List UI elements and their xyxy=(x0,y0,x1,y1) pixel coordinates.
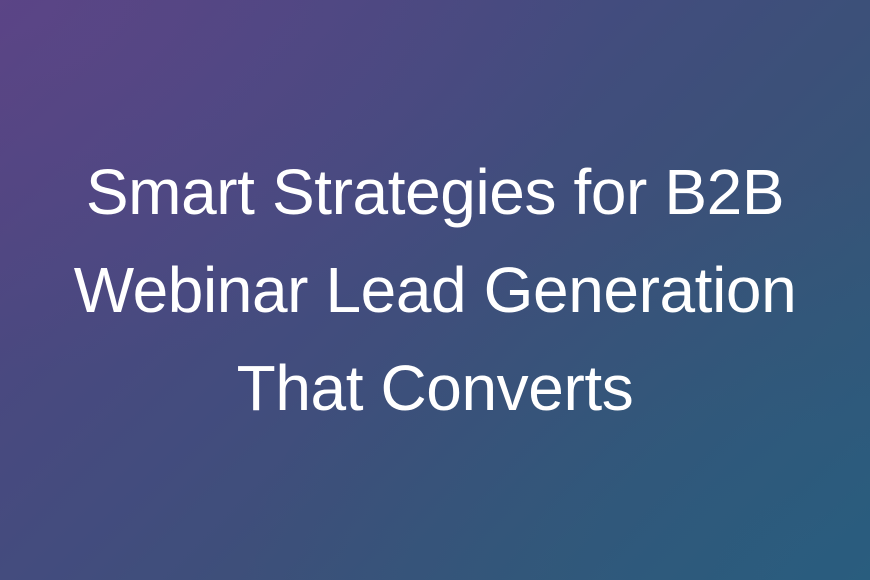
title-line-2: Webinar Lead Generation xyxy=(51,241,819,339)
hero-title-card: Smart Strategies for B2B Webinar Lead Ge… xyxy=(0,0,870,580)
page-title: Smart Strategies for B2B Webinar Lead Ge… xyxy=(35,143,835,437)
title-line-1: Smart Strategies for B2B xyxy=(51,143,819,241)
title-line-3: That Converts xyxy=(51,339,819,437)
